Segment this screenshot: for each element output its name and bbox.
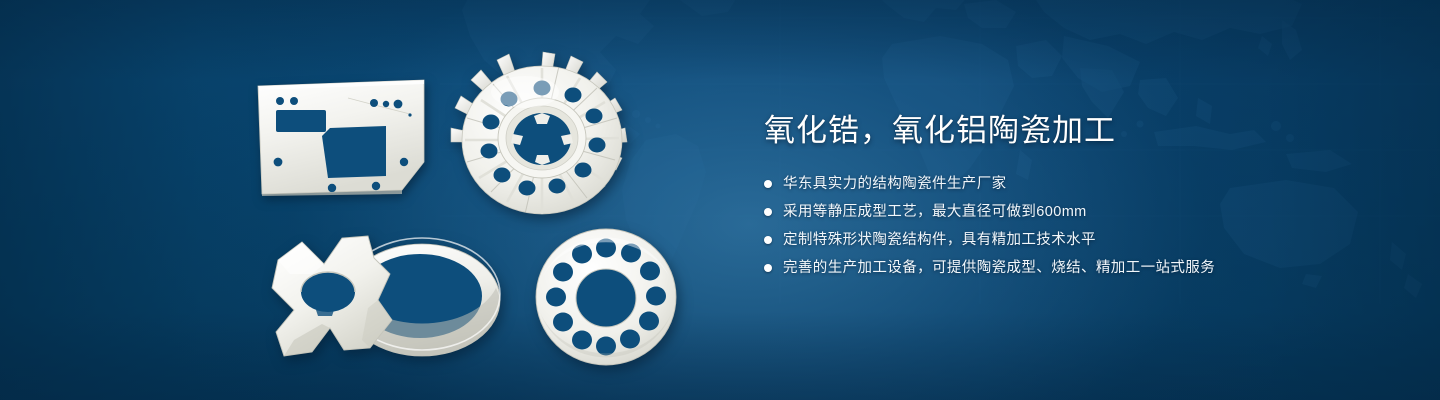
feature-text: 定制特殊形状陶瓷结构件，具有精加工技术水平 — [783, 230, 1096, 250]
bullet-dot-icon — [764, 208, 772, 216]
bullet-dot-icon — [764, 264, 772, 272]
headline: 氧化锆，氧化铝陶瓷加工 — [764, 112, 1404, 150]
feature-item: 采用等静压成型工艺，最大直径可做到600mm — [764, 202, 1404, 222]
product-photo-cluster — [0, 0, 730, 400]
bullet-dot-icon — [764, 180, 772, 188]
feature-item: 华东具实力的结构陶瓷件生产厂家 — [764, 174, 1404, 194]
feature-text: 完善的生产加工设备，可提供陶瓷成型、烧结、精加工一站式服务 — [783, 258, 1215, 278]
feature-item: 完善的生产加工设备，可提供陶瓷成型、烧结、精加工一站式服务 — [764, 258, 1404, 278]
copy-block: 氧化锆，氧化铝陶瓷加工 华东具实力的结构陶瓷件生产厂家 采用等静压成型工艺，最大… — [764, 112, 1404, 278]
ceramic-mounting-plate — [252, 78, 430, 196]
bullet-dot-icon — [764, 236, 772, 244]
ceramic-vaned-impeller — [447, 48, 637, 224]
ceramic-cross-part-and-ring — [250, 224, 512, 366]
feature-text: 华东具实力的结构陶瓷件生产厂家 — [783, 174, 1007, 194]
feature-text: 采用等静压成型工艺，最大直径可做到600mm — [783, 202, 1087, 222]
ceramic-valve-plate — [518, 226, 694, 368]
feature-item: 定制特殊形状陶瓷结构件，具有精加工技术水平 — [764, 230, 1404, 250]
promo-banner: 氧化锆，氧化铝陶瓷加工 华东具实力的结构陶瓷件生产厂家 采用等静压成型工艺，最大… — [0, 0, 1440, 400]
feature-list: 华东具实力的结构陶瓷件生产厂家 采用等静压成型工艺，最大直径可做到600mm 定… — [764, 174, 1404, 278]
